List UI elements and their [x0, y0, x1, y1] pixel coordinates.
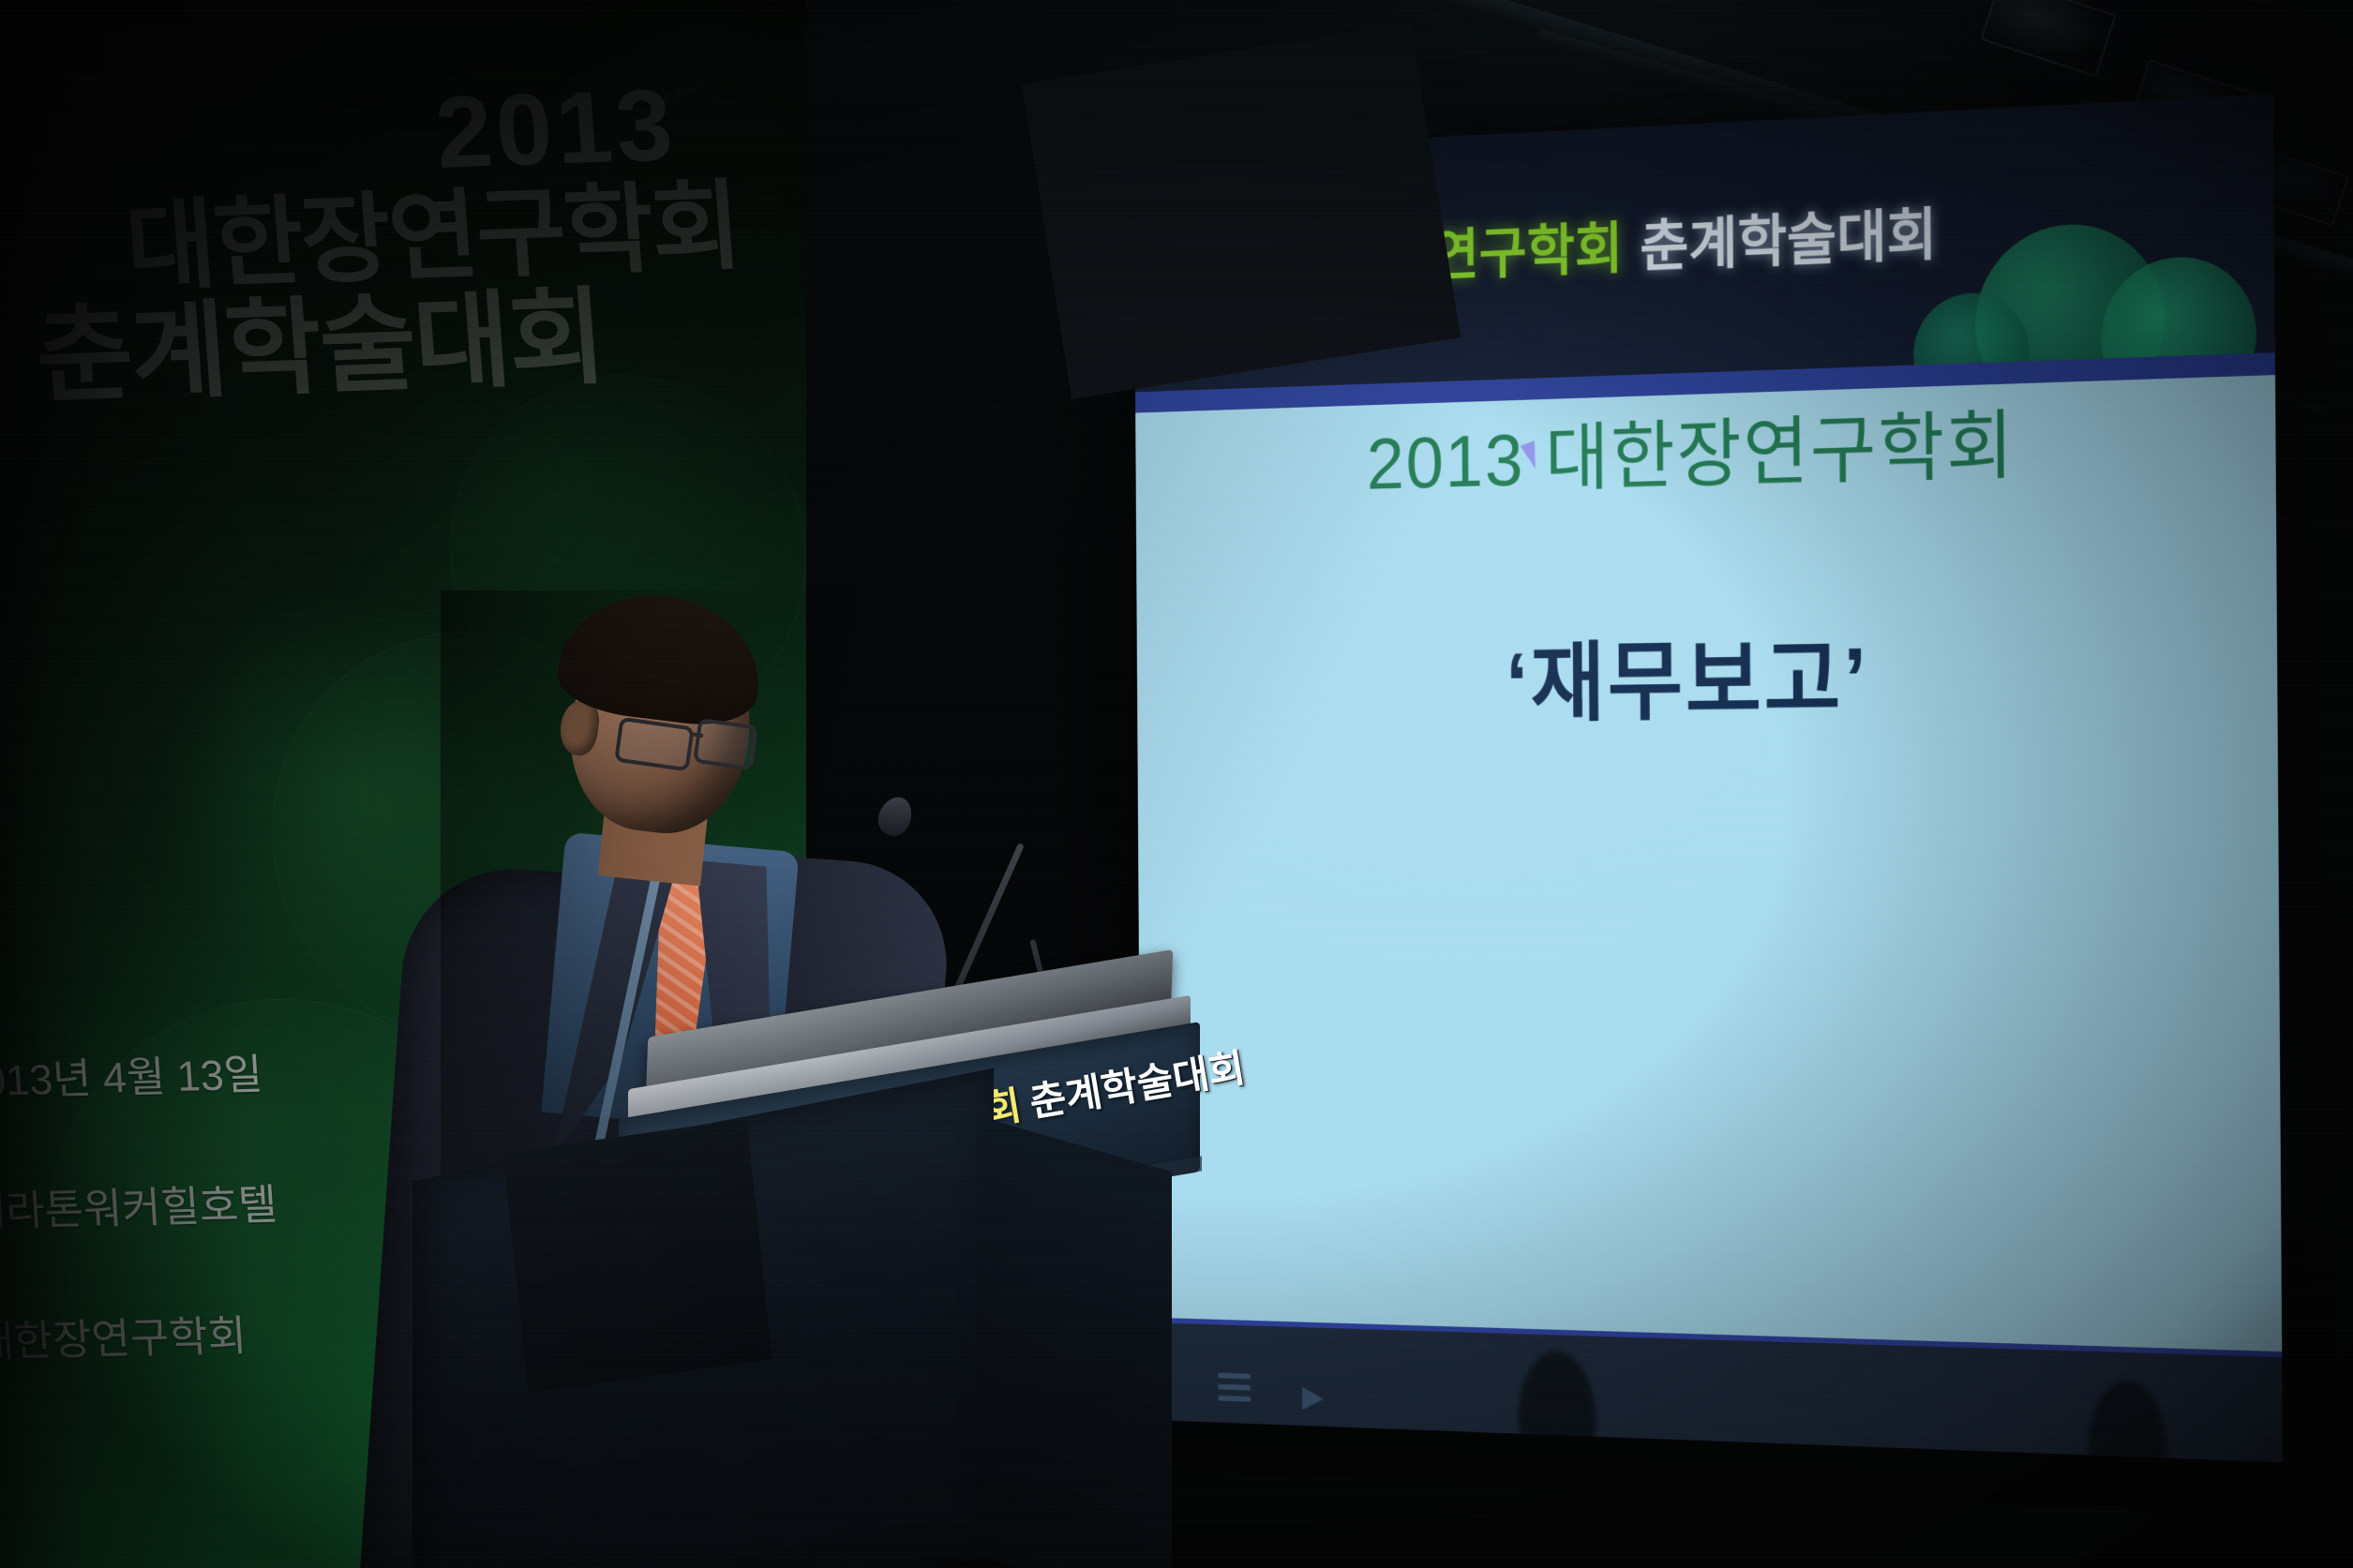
- lectern: 2013대한장연구학회춘계학술대회: [656, 984, 1369, 1568]
- info-value-venue: 쉐라톤워커힐호텔: [0, 1181, 278, 1236]
- lectern-confidence-monitor: [502, 1119, 772, 1394]
- info-value-host: 대한장연구학회: [0, 1312, 247, 1366]
- slide-subtitle: ‘재무보고’: [1137, 600, 2278, 741]
- screen-corner-shadow: [1022, 22, 1461, 399]
- eyeglasses-lens-right: [693, 718, 758, 770]
- lectern-side-panel: [975, 1115, 1172, 1568]
- backdrop-title-block: seases 2013 대한장연구학회 춘계학술대회: [18, 72, 752, 415]
- slide-header-event: 춘계학술대회: [1640, 204, 1937, 280]
- presentation-scene: seases 2013 대한장연구학회 춘계학술대회 날짜|2013년 4월 1…: [0, 0, 2353, 1568]
- info-value-date: 2013년 4월 13일: [0, 1051, 264, 1106]
